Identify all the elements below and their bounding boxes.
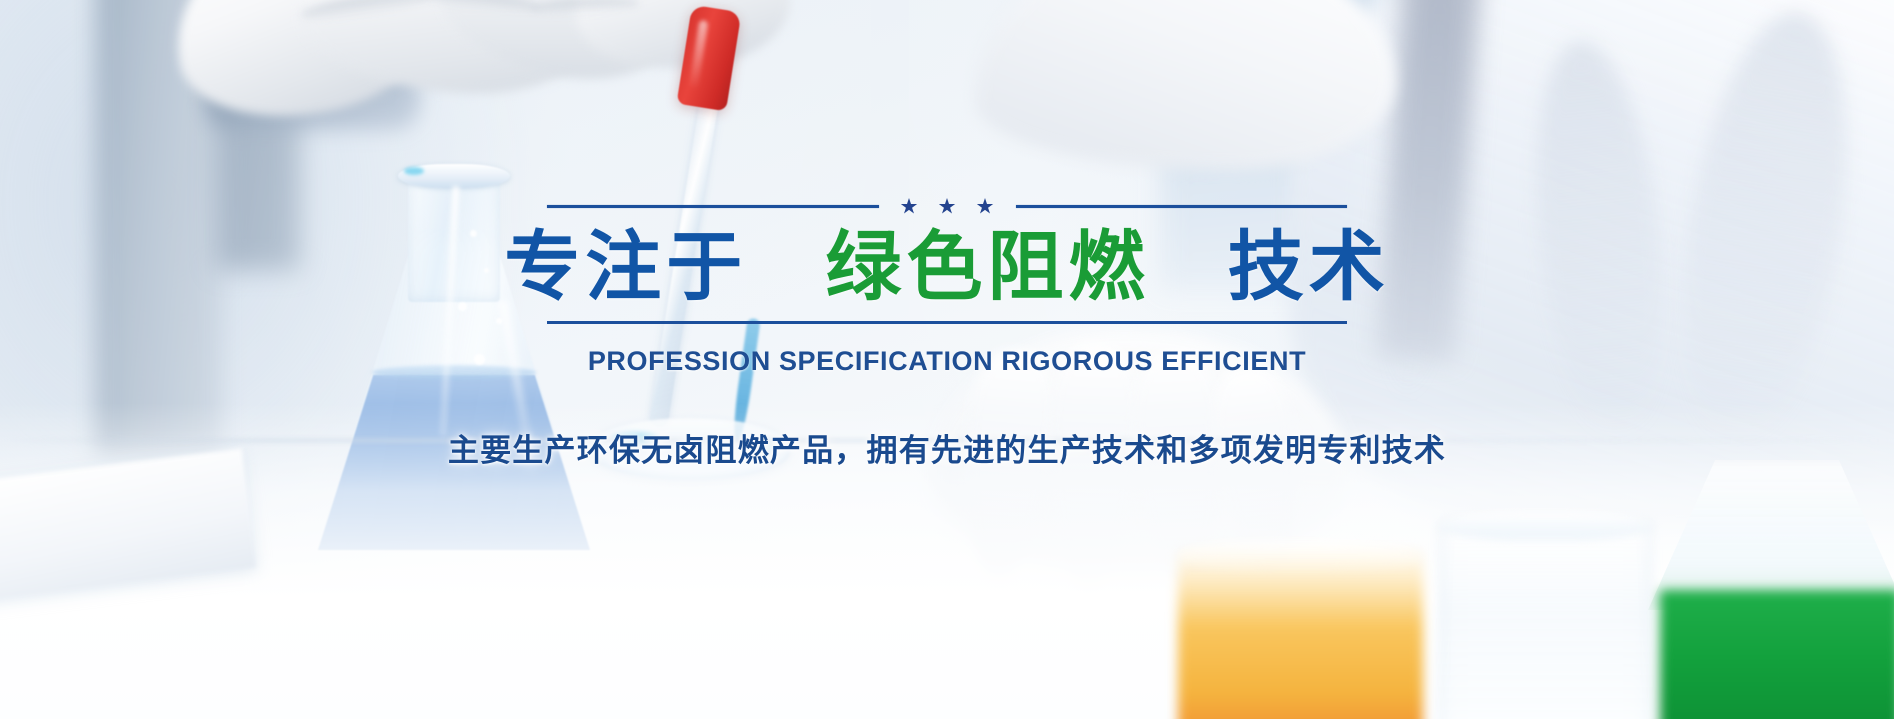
headline-part-3: 技术 — [1228, 225, 1390, 310]
subtitle-english: PROFESSION SPECIFICATION RIGOROUS EFFICI… — [588, 346, 1306, 377]
description-chinese: 主要生产环保无卤阻燃产品，拥有先进的生产技术和多项发明专利技术 — [448, 425, 1446, 470]
decorative-rule-with-stars — [547, 198, 1347, 215]
headline-part-2: 绿色阻燃 — [826, 225, 1150, 310]
star-icon — [901, 198, 918, 215]
headline-underline — [547, 321, 1347, 324]
banner-content: 专注于 绿色阻燃 技术 PROFESSION SPECIFICATION RIG… — [0, 0, 1894, 719]
star-icon — [977, 198, 994, 215]
star-group — [879, 198, 1016, 215]
headline-part-1: 专注于 — [504, 225, 747, 310]
star-icon — [939, 198, 956, 215]
rule-line-right — [1016, 205, 1348, 208]
hero-banner: 专注于 绿色阻燃 技术 PROFESSION SPECIFICATION RIG… — [0, 0, 1894, 719]
headline: 专注于 绿色阻燃 技术 — [504, 227, 1390, 309]
rule-line-left — [547, 205, 879, 208]
